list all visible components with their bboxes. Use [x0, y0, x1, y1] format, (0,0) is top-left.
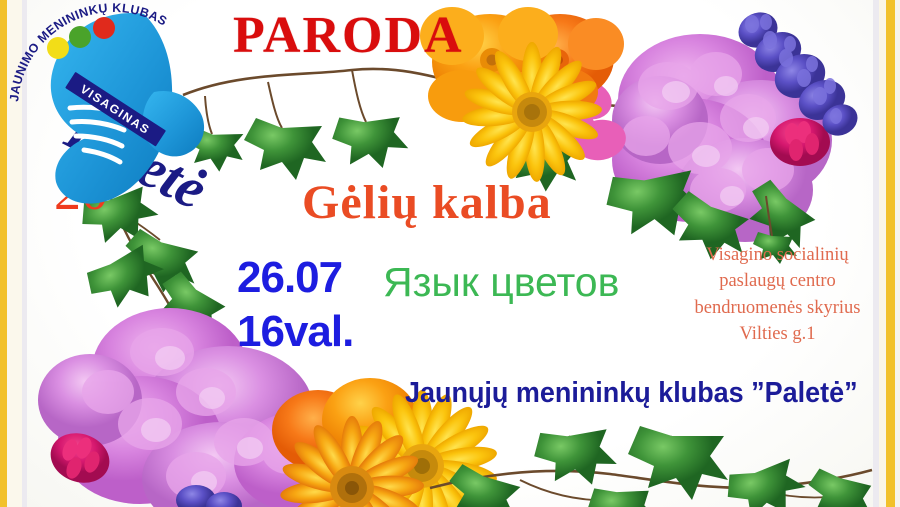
venue-line-3: bendruomenės skyrius [665, 295, 890, 321]
venue-line-2: paslaugų centro [665, 268, 890, 294]
venue-line-4: Vilties g.1 [665, 321, 890, 347]
logo-dot-yellow [47, 37, 69, 59]
venue-address: Visagino socialinių paslaugų centro bend… [665, 242, 890, 347]
logo-dot-green [69, 26, 91, 48]
organizer-line: Jaunųjų menininkų klubas ”Paletė” [405, 377, 858, 410]
subtitle-russian: Язык цветов [383, 259, 619, 306]
event-time: 16val. [237, 307, 353, 357]
flower-exhibition-poster: JAUNIMO MENININKŲ KLUBAS VISAGINAS Palet… [0, 0, 900, 507]
subtitle-lithuanian: Gėlių kalba [302, 175, 552, 230]
page-title-paroda: PARODA [233, 6, 464, 65]
ivy-leaves-bottom [440, 421, 878, 507]
event-date: 26.07 [237, 253, 342, 303]
venue-line-1: Visagino socialinių [665, 242, 890, 268]
magenta-bud-cluster [770, 118, 830, 166]
club-logo: JAUNIMO MENININKŲ KLUBAS VISAGINAS [4, 0, 219, 221]
logo-dot-red [93, 17, 115, 39]
